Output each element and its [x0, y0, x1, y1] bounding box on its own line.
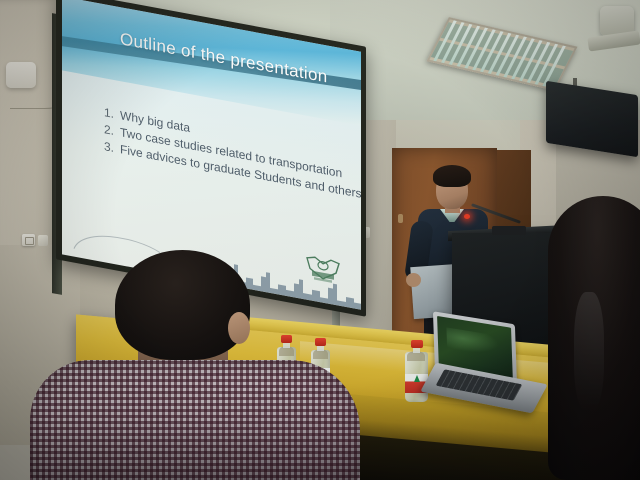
woman-hair-highlight [574, 292, 604, 412]
microphone-led-indicator [464, 214, 470, 219]
man-shirt-shadow [30, 420, 360, 480]
water-bottle[interactable] [405, 340, 428, 404]
microphone-base [492, 226, 526, 235]
lecture-hall-photo: Outline of the presentation 1.Why big da… [0, 0, 640, 480]
seated-man-checkered-shirt [30, 250, 360, 480]
wall-mounted-white-device [6, 62, 36, 88]
open-laptop[interactable] [428, 318, 544, 410]
list-item-number: 3. [104, 138, 120, 158]
man-hair [115, 250, 250, 360]
slide-bullet-list: 1.Why big data 2.Two case studies relate… [104, 104, 361, 206]
door-knob[interactable] [398, 214, 403, 223]
presenter-hand [406, 273, 421, 287]
power-outlet[interactable] [22, 234, 35, 246]
seated-woman-long-hair [548, 196, 640, 480]
light-switch[interactable] [38, 235, 48, 246]
presenter-hair [433, 165, 471, 187]
man-ear [228, 312, 250, 344]
